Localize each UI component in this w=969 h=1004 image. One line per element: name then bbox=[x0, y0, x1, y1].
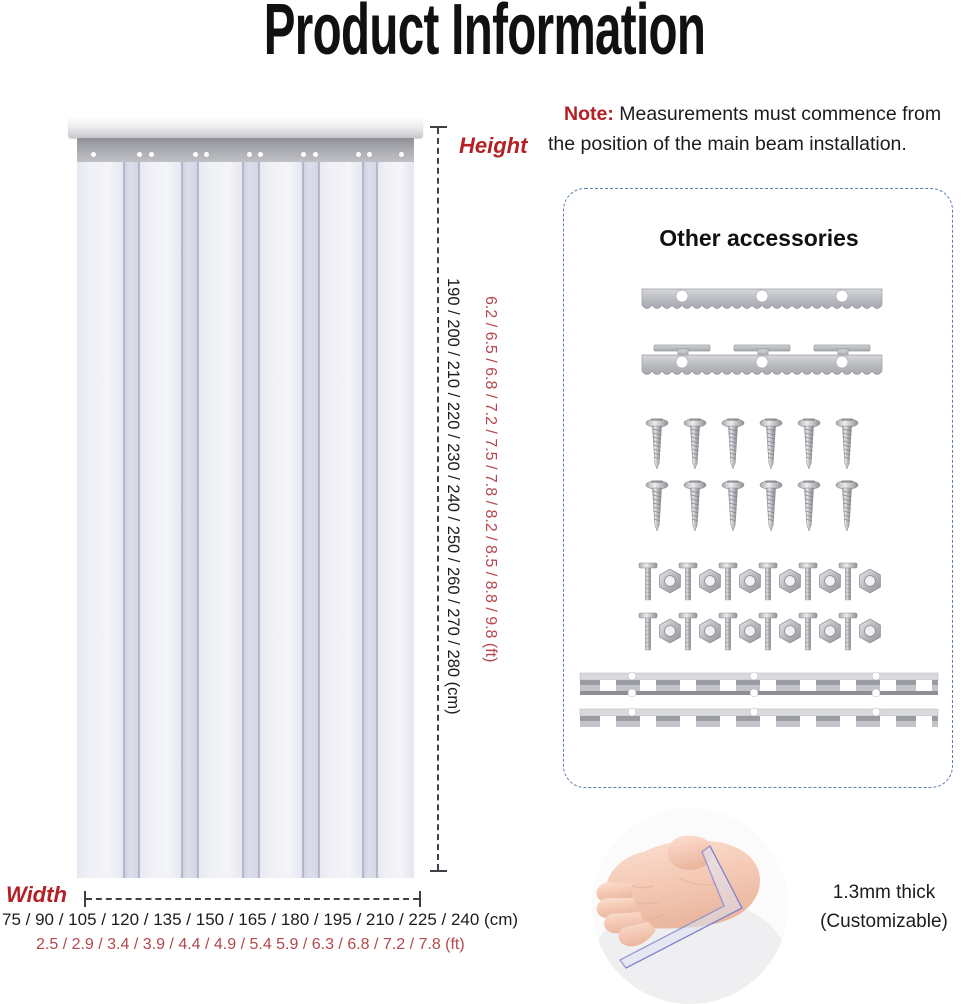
mounting-plate-tabbed bbox=[564, 341, 954, 385]
screw-row bbox=[564, 479, 954, 537]
pvc-strip-edge bbox=[181, 162, 183, 878]
accessories-title: Other accessories bbox=[564, 225, 954, 252]
bolt-and-nut-row bbox=[564, 609, 954, 657]
pvc-strip-edge bbox=[242, 162, 244, 878]
mounting-hole bbox=[149, 152, 154, 157]
bolt-nut-pair bbox=[719, 613, 760, 650]
mounting-hole bbox=[204, 152, 209, 157]
bolt-and-nut-row bbox=[564, 559, 954, 607]
thickness-line-2: (Customizable) bbox=[800, 907, 968, 936]
pvc-strip bbox=[124, 162, 139, 878]
pvc-strip-edge bbox=[376, 162, 378, 878]
mounting-hole bbox=[258, 152, 263, 157]
bolt-nut-pair bbox=[639, 613, 680, 650]
bolt-nut-pair bbox=[839, 563, 880, 600]
aluminium-rail bbox=[564, 707, 954, 733]
pvc-strips-group bbox=[77, 162, 414, 878]
width-cap-right bbox=[419, 891, 421, 907]
bolt-nut-pair bbox=[799, 563, 840, 600]
mounting-plate-plain bbox=[564, 285, 954, 319]
height-label: Height bbox=[459, 133, 527, 159]
page-title: Product Information bbox=[165, 0, 805, 66]
pvc-strip-edge bbox=[362, 162, 364, 878]
height-dimension-line bbox=[437, 122, 439, 876]
mounting-hole bbox=[193, 152, 198, 157]
note-line-1: Note: Measurements must commence from bbox=[548, 99, 968, 129]
bolt-nut-pair bbox=[839, 613, 880, 650]
width-values-ft: 2.5 / 2.9 / 3.4 / 3.9 / 4.4 / 4.9 / 5.4 … bbox=[36, 936, 506, 954]
screw-row bbox=[564, 417, 954, 475]
aluminium-rail-icon bbox=[564, 671, 954, 697]
curtain-mounting-strip bbox=[77, 138, 414, 164]
pvc-strip bbox=[77, 162, 125, 878]
screw-group-icon bbox=[564, 479, 954, 537]
mounting-plate-tabbed-icon bbox=[564, 341, 954, 385]
accessories-panel: Other accessories bbox=[563, 188, 953, 788]
screw-icon bbox=[684, 481, 706, 532]
pvc-strip bbox=[139, 162, 183, 878]
hand-flexible-strip-illustration bbox=[592, 808, 788, 1004]
aluminium-rail-icon bbox=[564, 707, 954, 733]
pvc-strip-edge bbox=[318, 162, 320, 878]
width-values-cm: 75 / 90 / 105 / 120 / 135 / 150 / 165 / … bbox=[2, 910, 482, 930]
height-cap-bottom bbox=[430, 870, 447, 872]
bolt-nut-pair bbox=[719, 563, 760, 600]
screw-icon bbox=[760, 481, 782, 532]
mounting-hole bbox=[313, 152, 318, 157]
pvc-strip bbox=[303, 162, 319, 878]
pvc-strip bbox=[259, 162, 304, 878]
screw-icon bbox=[722, 481, 744, 532]
mounting-hole bbox=[137, 152, 142, 157]
hand-holding-strip-photo bbox=[592, 808, 788, 1004]
note-block: Note: Measurements must commence from th… bbox=[548, 99, 968, 159]
bolt-nut-pair bbox=[639, 563, 680, 600]
pvc-strip bbox=[243, 162, 259, 878]
height-values-ft: 6.2 / 6.5 / 6.8 / 7.2 / 7.5 / 7.8 / 8.2 … bbox=[481, 296, 499, 662]
screw-group-icon bbox=[564, 417, 954, 475]
width-dashed-line bbox=[86, 898, 419, 900]
note-line-1-text: Measurements must commence from bbox=[614, 103, 941, 125]
pvc-strip-edge bbox=[197, 162, 199, 878]
bolt-nut-pair bbox=[759, 613, 800, 650]
mounting-hole bbox=[91, 152, 96, 157]
bolt-nut-group-icon bbox=[564, 559, 954, 607]
screw-icon bbox=[760, 419, 782, 470]
bolt-nut-group-icon bbox=[564, 609, 954, 657]
curtain-top-rail bbox=[68, 118, 423, 138]
mounting-hole bbox=[301, 152, 306, 157]
pvc-strip-edge bbox=[258, 162, 260, 878]
screw-icon bbox=[836, 419, 858, 470]
pvc-strip-curtain-illustration bbox=[68, 118, 423, 878]
bolt-nut-pair bbox=[799, 613, 840, 650]
pvc-strip-edge bbox=[302, 162, 304, 878]
mounting-plate-plain-icon bbox=[564, 285, 954, 319]
mounting-hole bbox=[247, 152, 252, 157]
pvc-strip-edge bbox=[123, 162, 125, 878]
pvc-strip-edge bbox=[138, 162, 140, 878]
thickness-caption: 1.3mm thick (Customizable) bbox=[800, 878, 968, 936]
mounting-hole bbox=[399, 152, 404, 157]
width-dimension-line bbox=[82, 892, 423, 906]
note-line-2: the position of the main beam installati… bbox=[548, 129, 968, 159]
pvc-strip bbox=[182, 162, 198, 878]
screw-icon bbox=[684, 419, 706, 470]
bolt-nut-pair bbox=[759, 563, 800, 600]
pvc-strip bbox=[377, 162, 414, 878]
aluminium-rail bbox=[564, 671, 954, 697]
bolt-nut-pair bbox=[679, 563, 720, 600]
width-label: Width bbox=[6, 882, 67, 908]
thickness-line-1: 1.3mm thick bbox=[800, 878, 968, 907]
bolt-nut-pair bbox=[679, 613, 720, 650]
height-values-cm: 190 / 200 / 210 / 220 / 230 / 240 / 250 … bbox=[443, 278, 462, 715]
pvc-strip bbox=[198, 162, 244, 878]
height-dashed-line bbox=[437, 128, 439, 870]
screw-icon bbox=[836, 481, 858, 532]
screw-icon bbox=[646, 481, 668, 532]
note-lead-label: Note: bbox=[564, 103, 614, 125]
mounting-hole bbox=[367, 152, 372, 157]
pvc-strip bbox=[319, 162, 364, 878]
mounting-hole bbox=[356, 152, 361, 157]
screw-icon bbox=[798, 481, 820, 532]
screw-icon bbox=[646, 419, 668, 470]
screw-icon bbox=[798, 419, 820, 470]
screw-icon bbox=[722, 419, 744, 470]
